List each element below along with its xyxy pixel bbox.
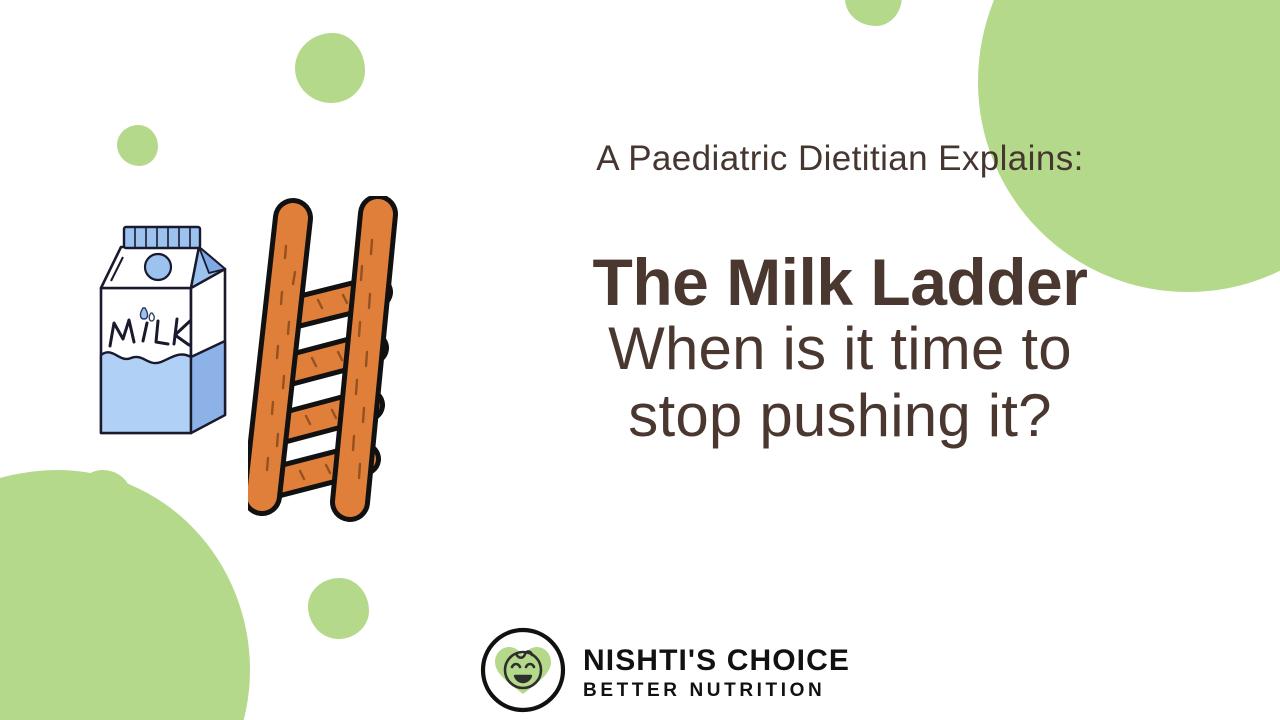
logo-tagline: BETTER NUTRITION	[583, 681, 850, 700]
green-blob-top-left-small	[117, 125, 158, 166]
headline-subtitle-line-1: When is it time to	[470, 315, 1210, 382]
text-block: A Paediatric Dietitian Explains: The Mil…	[470, 140, 1210, 449]
green-blob-bottom-center	[308, 578, 369, 639]
brand-logo-lockup: NISHTI'S CHOICE BETTER NUTRITION	[479, 626, 850, 719]
heart-baby-face-icon	[479, 626, 567, 719]
ladder-illustration	[248, 196, 428, 531]
headline-group: The Milk Ladder When is it time to stop …	[470, 249, 1210, 449]
eyebrow-text: A Paediatric Dietitian Explains:	[470, 140, 1210, 179]
logo-brand-name: NISHTI'S CHOICE	[583, 646, 850, 676]
green-blob-top-left-large	[295, 33, 365, 103]
green-blob-top-center	[845, 0, 902, 26]
slide-canvas: A Paediatric Dietitian Explains: The Mil…	[0, 0, 1280, 720]
milk-carton-illustration	[85, 215, 245, 460]
logo-wordmark: NISHTI'S CHOICE BETTER NUTRITION	[583, 646, 850, 700]
headline-subtitle-line-2: stop pushing it?	[470, 382, 1210, 449]
page-title: The Milk Ladder	[470, 249, 1210, 315]
